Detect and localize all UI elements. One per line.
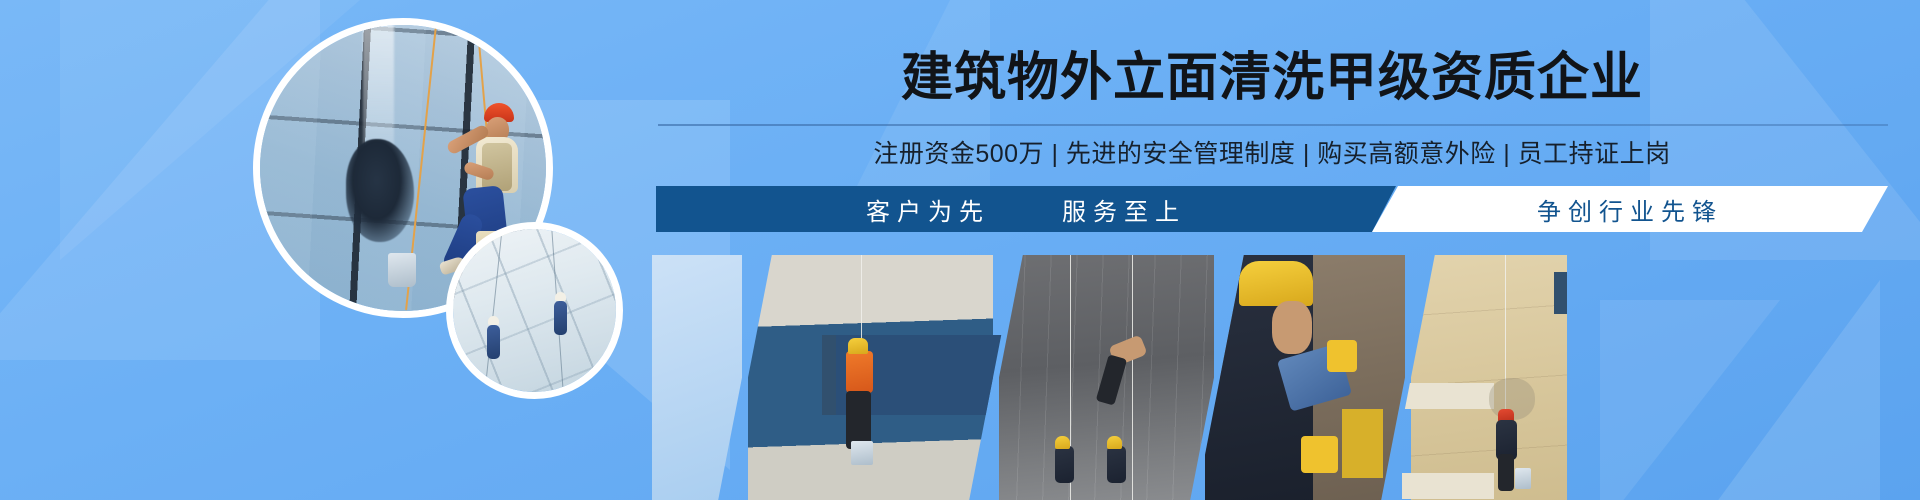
page-title: 建筑物外立面清洗甲级资质企业 [652,50,1892,107]
promo-banner: 建筑物外立面清洗甲级资质企业 注册资金500万 | 先进的安全管理制度 | 购买… [0,0,1920,500]
subtitle: 注册资金500万 | 先进的安全管理制度 | 购买高额意外险 | 员工持证上岗 [652,134,1892,170]
slogan-industry-pioneer: 争创行业先锋 [1537,192,1723,227]
photo-strip [652,255,1567,500]
slogan-bar-dark: 客户为先 服务至上 [656,186,1396,232]
slogan-customer-first: 客户为先 [866,192,990,227]
photo-pane-grey-concrete [973,255,1240,500]
title-divider [658,124,1888,126]
photo-pane-blue-building [722,255,1019,500]
slogan-bar-light: 争创行业先锋 [1372,186,1888,232]
circle-photo-secondary [446,222,623,399]
slogan-bar: 客户为先 服务至上 争创行业先锋 [656,186,1888,232]
slogan-service-supreme: 服务至上 [1062,192,1186,227]
